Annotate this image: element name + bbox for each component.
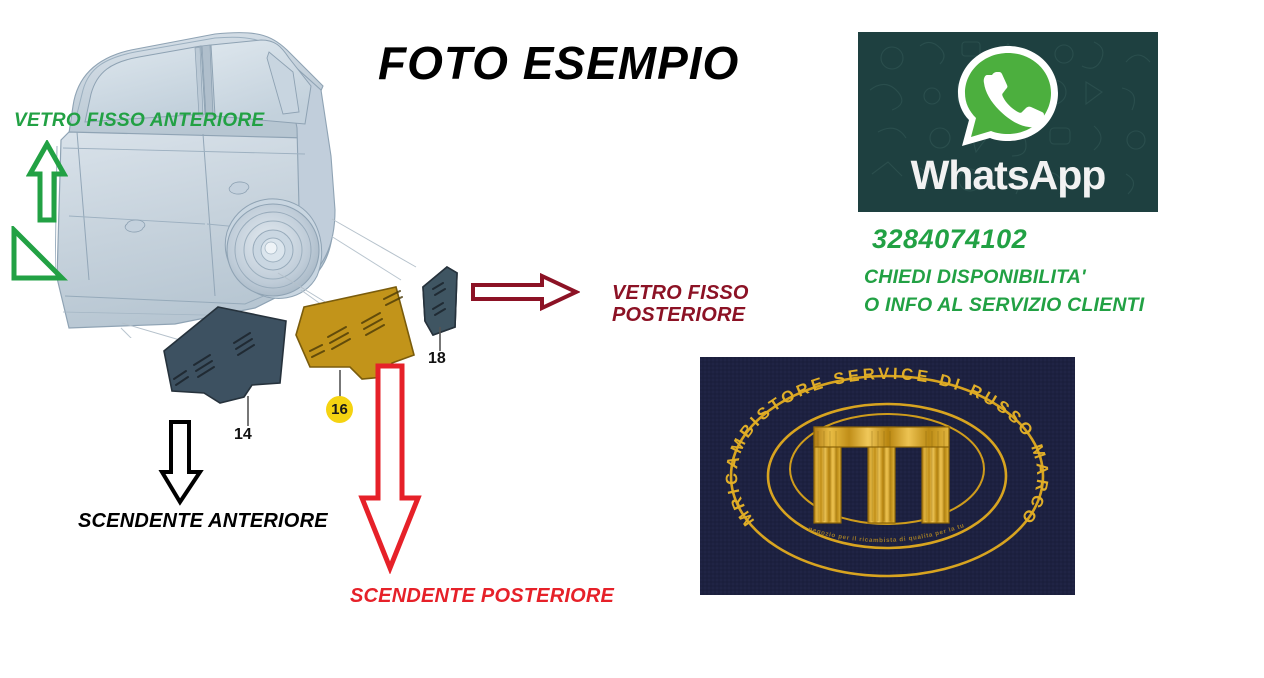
label-scendente-posteriore: SCENDENTE POSTERIORE — [350, 585, 614, 607]
mricambistore-logo: MRICAMBISTORE SERVICE DI RUSSO MARCO — [700, 357, 1075, 595]
part-number-16-badge: 16 — [326, 396, 353, 423]
contact-line-2: O INFO AL SERVIZIO CLIENTI — [864, 293, 1144, 317]
label-vetro-fisso-posteriore-line1: VETRO FISSO — [612, 282, 749, 304]
page-title: FOTO ESEMPIO — [378, 36, 798, 90]
label-vetro-fisso-anteriore: VETRO FISSO ANTERIORE — [14, 110, 265, 131]
part-14-leader — [240, 396, 256, 430]
darkred-right-arrow-icon — [470, 272, 580, 312]
whatsapp-banner: WhatsApp — [858, 32, 1158, 212]
part-number-18: 18 — [428, 350, 446, 368]
red-down-arrow-icon — [358, 362, 422, 574]
contact-phone-number[interactable]: 3284074102 — [872, 224, 1027, 255]
contact-line-1: CHIEDI DISPONIBILITA' — [864, 265, 1086, 289]
label-scendente-anteriore: SCENDENTE ANTERIORE — [78, 510, 328, 532]
part-number-14: 14 — [234, 426, 252, 444]
label-vetro-fisso-posteriore-line2: POSTERIORE — [612, 304, 749, 326]
green-up-arrow-icon — [26, 140, 68, 224]
whatsapp-icon — [948, 40, 1068, 158]
company-logo-photo: MRICAMBISTORE SERVICE DI RUSSO MARCO — [700, 357, 1075, 595]
label-vetro-fisso-posteriore: VETRO FISSO POSTERIORE — [612, 282, 749, 327]
whatsapp-wordmark: WhatsApp — [858, 152, 1158, 199]
black-down-arrow-icon — [158, 418, 206, 506]
green-triangle-icon — [8, 226, 68, 284]
poster-canvas: 14 16 17 18 VETRO FISSO ANTERIORE — [0, 0, 1264, 678]
part-14-front-drop-glass — [160, 305, 290, 415]
